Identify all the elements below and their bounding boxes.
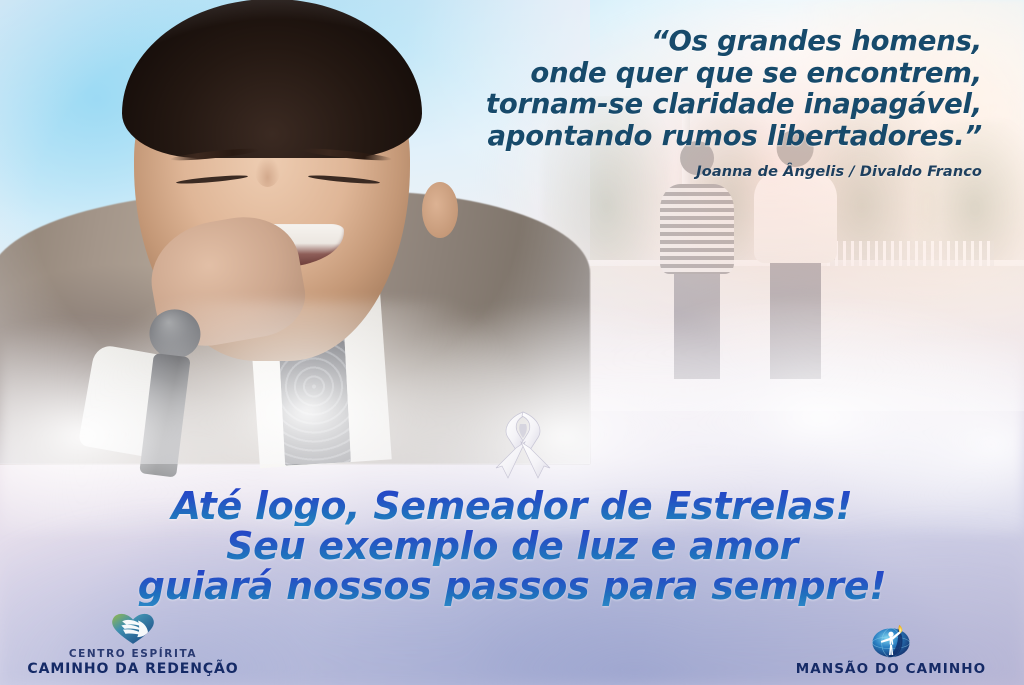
memorial-poster: “Os grandes homens, onde quer que se enc… <box>0 0 1024 685</box>
figure-torso <box>660 184 734 274</box>
quote-line-3: tornam-se claridade inapagável, <box>422 89 982 121</box>
heart-hands-icon <box>8 610 258 646</box>
quote-block: “Os grandes homens, onde quer que se enc… <box>422 26 982 180</box>
logo-centro-espirita-caminho-da-redencao[interactable]: CENTRO ESPÍRITA CAMINHO DA REDENÇÃO <box>8 610 258 677</box>
logo-left-line-1: CENTRO ESPÍRITA <box>8 648 258 660</box>
headline-line-2: Seu exemplo de luz e amor <box>0 526 1024 566</box>
headline-line-1: Até logo, Semeador de Estrelas! <box>0 486 1024 526</box>
logo-left-line-2: CAMINHO DA REDENÇÃO <box>8 661 258 677</box>
headline-line-3: guiará nossos passos para sempre! <box>0 566 1024 606</box>
portrait-ear <box>422 182 458 238</box>
quote-line-4: apontando rumos libertadores.” <box>422 121 982 153</box>
headline-block: Até logo, Semeador de Estrelas! Seu exem… <box>0 486 1024 606</box>
portrait-nose <box>255 155 280 186</box>
logo-right-line-2: MANSÃO DO CAMINHO <box>766 661 1016 677</box>
figure-torso <box>754 172 838 263</box>
logo-mansao-do-caminho[interactable]: MANSÃO DO CAMINHO <box>766 623 1016 677</box>
globe-figure-flame-icon <box>766 623 1016 659</box>
portrait-hair <box>122 0 422 158</box>
quote-line-1: “Os grandes homens, <box>422 26 982 58</box>
quote-line-2: onde quer que se encontrem, <box>422 58 982 90</box>
quote-attribution: Joanna de Ângelis / Divaldo Franco <box>422 164 982 180</box>
white-ribbon-icon <box>494 408 552 484</box>
